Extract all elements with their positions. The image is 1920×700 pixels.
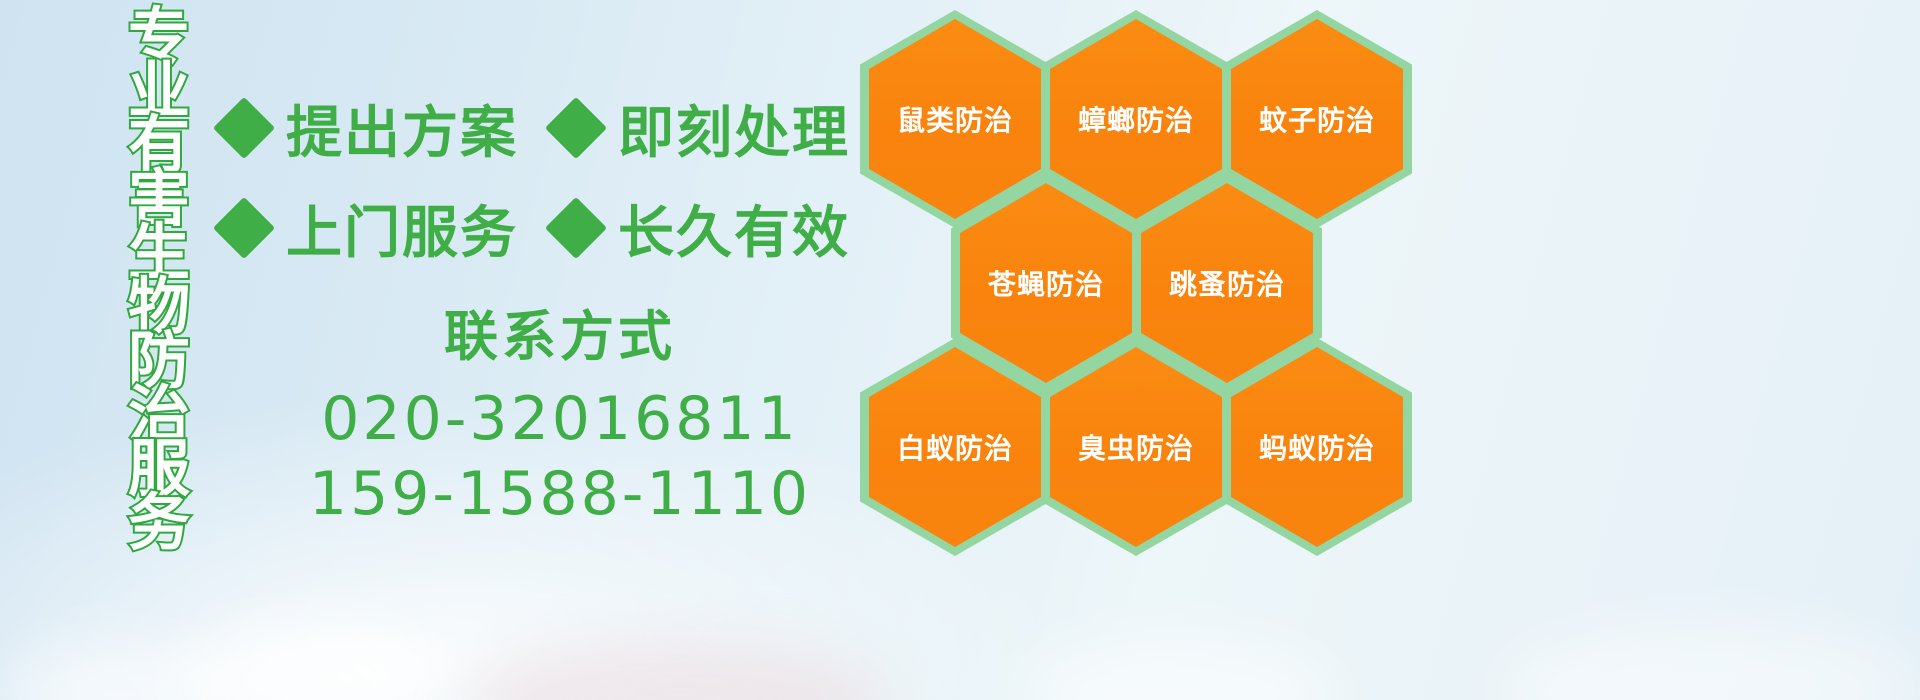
banner-canvas: 专业有害生物防治服务 提出方案 即刻处理 上门服务 长久有效 联系方式	[0, 0, 1920, 700]
phone-number-landline[interactable]: 020-32016811	[250, 382, 870, 457]
vertical-headline-char: 务	[128, 496, 190, 550]
feature-list: 提出方案 即刻处理 上门服务 长久有效	[222, 78, 882, 278]
feature-row: 上门服务 长久有效	[222, 178, 882, 278]
feature-label: 提出方案	[286, 88, 518, 169]
feature-item: 即刻处理	[554, 88, 850, 169]
service-hexagon-label: 跳蚤防治	[1169, 263, 1285, 303]
service-hexagon-label: 白蚁防治	[897, 427, 1013, 467]
service-honeycomb: 鼠类防治蟑螂防治蚊子防治苍蝇防治跳蚤防治白蚁防治臭虫防治蚂蚁防治	[860, 0, 1480, 700]
background-blur-smudge	[180, 620, 440, 700]
service-hexagon-label: 臭虫防治	[1078, 427, 1194, 467]
diamond-bullet-icon	[213, 97, 275, 159]
service-hexagon-label: 蚊子防治	[1259, 99, 1375, 139]
service-hexagon-label: 苍蝇防治	[988, 263, 1104, 303]
feature-label: 即刻处理	[618, 88, 850, 169]
diamond-bullet-icon	[545, 197, 607, 259]
vertical-headline: 专业有害生物防治服务	[107, 10, 211, 555]
feature-label: 长久有效	[618, 188, 850, 269]
feature-label: 上门服务	[286, 188, 518, 269]
diamond-bullet-icon	[213, 197, 275, 259]
service-hexagon-label: 蚂蚁防治	[1259, 427, 1375, 467]
feature-row: 提出方案 即刻处理	[222, 78, 882, 178]
background-blur-smudge	[470, 640, 890, 700]
service-hexagon-label: 蟑螂防治	[1078, 99, 1194, 139]
service-hexagon-label: 鼠类防治	[897, 99, 1013, 139]
background-blur-smudge	[1500, 620, 1920, 700]
diamond-bullet-icon	[545, 97, 607, 159]
background-blur-smudge	[0, 640, 240, 700]
feature-item: 长久有效	[554, 188, 850, 269]
phone-number-mobile[interactable]: 159-1588-1110	[250, 457, 870, 532]
contact-block: 联系方式 020-32016811 159-1588-1110	[250, 310, 870, 532]
feature-item: 提出方案	[222, 88, 518, 169]
feature-item: 上门服务	[222, 188, 518, 269]
contact-heading: 联系方式	[250, 310, 870, 364]
